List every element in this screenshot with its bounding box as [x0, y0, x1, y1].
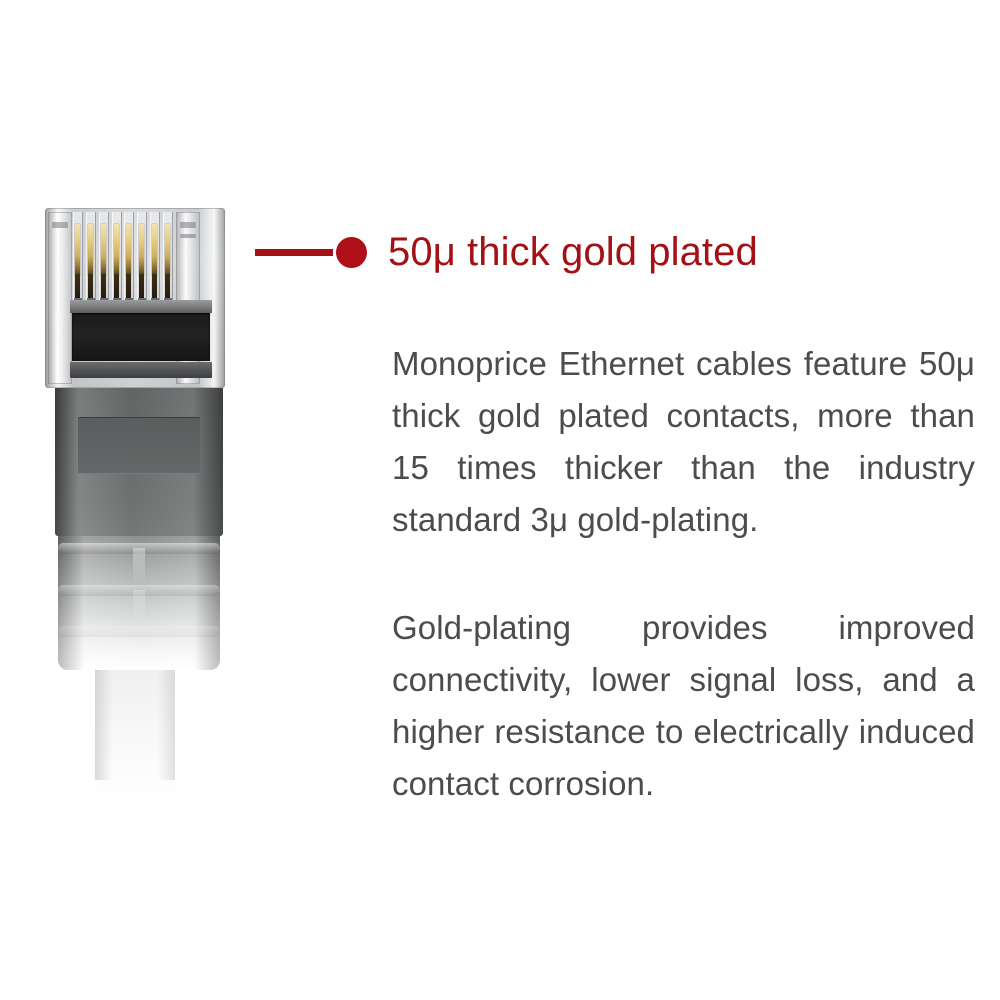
pin-tail [114, 274, 119, 298]
pin-tail [139, 274, 144, 298]
pin-tail [152, 274, 157, 298]
pin-slot [137, 212, 147, 310]
connector-cavity [72, 313, 210, 361]
gold-pin-icon [152, 224, 157, 276]
cavity-lower-lip [70, 362, 212, 378]
pin-slot [86, 212, 96, 310]
content-column: 50μ thick gold plated Monoprice Ethernet… [255, 0, 1000, 1000]
pin-tail [88, 274, 93, 298]
paragraph-2: Gold-plating provides improved connectiv… [392, 602, 975, 810]
pin-tail [101, 274, 106, 298]
pin-slot [163, 212, 173, 310]
leader-line-icon [255, 249, 333, 256]
pin-tail [75, 274, 80, 298]
housing-mark [180, 234, 196, 238]
pin-slot [112, 212, 122, 310]
gold-pin-icon [114, 224, 119, 276]
feature-headline: 50μ thick gold plated [388, 230, 758, 274]
boot-rib [58, 626, 220, 637]
gold-pin-icon [75, 224, 80, 276]
gold-pin-icon [139, 224, 144, 276]
cavity-top-edge [70, 300, 212, 313]
pin-tail [165, 274, 170, 298]
gold-pin-icon [126, 224, 131, 276]
connector-body-panel [78, 417, 200, 474]
paragraph-1: Monoprice Ethernet cables feature 50μ th… [392, 338, 975, 546]
gold-pin-icon [101, 224, 106, 276]
bullet-dot-icon [336, 237, 367, 268]
gold-pin-icon [88, 224, 93, 276]
boot-notch [133, 590, 145, 624]
pin-slot [99, 212, 109, 310]
infographic-page: 50μ thick gold plated Monoprice Ethernet… [0, 0, 1000, 1000]
boot-notch [133, 548, 145, 582]
gold-pin-icon [165, 224, 170, 276]
pin-slot [124, 212, 134, 310]
feature-callout: 50μ thick gold plated [255, 228, 1000, 276]
housing-left-rail [48, 212, 72, 384]
housing-mark [52, 222, 68, 228]
pin-tail [126, 274, 131, 298]
gold-contact-pins [73, 212, 173, 310]
pin-slot [150, 212, 160, 310]
description-text: Monoprice Ethernet cables feature 50μ th… [392, 338, 975, 810]
pin-slot [73, 212, 83, 310]
housing-mark [180, 222, 196, 228]
